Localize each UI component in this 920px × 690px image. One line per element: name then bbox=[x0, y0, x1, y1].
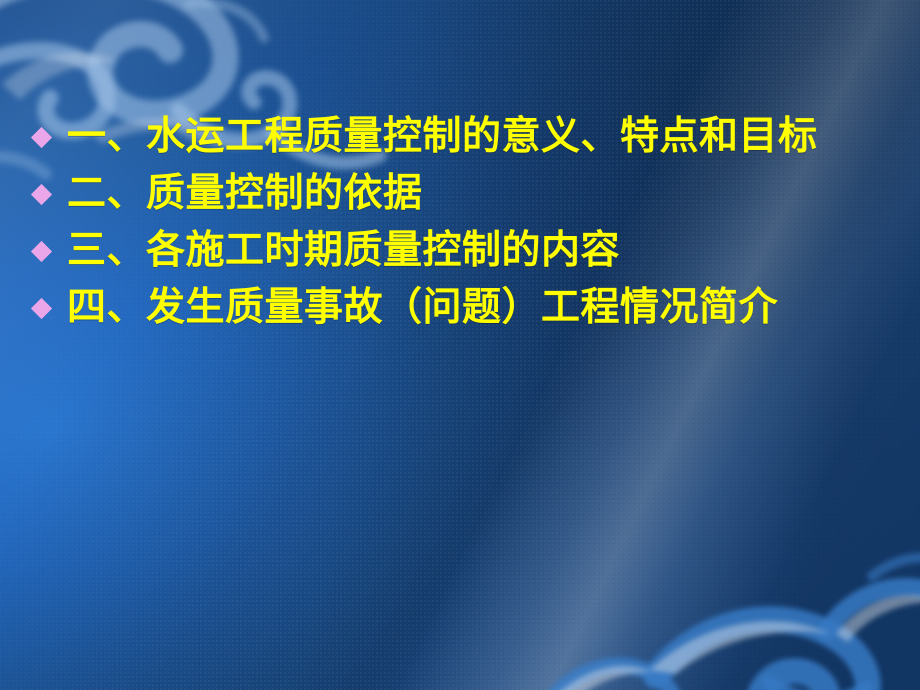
agenda-bullet-list: 一、水运工程质量控制的意义、特点和目标 二、质量控制的依据 三、各施工时期质量控… bbox=[34, 108, 894, 336]
diamond-bullet-icon bbox=[31, 298, 52, 319]
presentation-slide: 一、水运工程质量控制的意义、特点和目标 二、质量控制的依据 三、各施工时期质量控… bbox=[0, 0, 920, 690]
list-item[interactable]: 二、质量控制的依据 bbox=[34, 165, 894, 222]
diamond-bullet-icon bbox=[31, 184, 52, 205]
list-item-label: 一、水运工程质量控制的意义、特点和目标 bbox=[67, 117, 818, 156]
diamond-bullet-icon bbox=[31, 241, 52, 262]
list-item-label: 二、质量控制的依据 bbox=[67, 174, 423, 213]
list-item-label: 三、各施工时期质量控制的内容 bbox=[67, 231, 620, 270]
list-item[interactable]: 三、各施工时期质量控制的内容 bbox=[34, 222, 894, 279]
list-item-label: 四、发生质量事故（问题）工程情况简介 bbox=[67, 288, 778, 327]
diamond-bullet-icon bbox=[31, 127, 52, 148]
list-item[interactable]: 一、水运工程质量控制的意义、特点和目标 bbox=[34, 108, 894, 165]
slide-content: 一、水运工程质量控制的意义、特点和目标 二、质量控制的依据 三、各施工时期质量控… bbox=[0, 0, 920, 690]
list-item[interactable]: 四、发生质量事故（问题）工程情况简介 bbox=[34, 279, 894, 336]
